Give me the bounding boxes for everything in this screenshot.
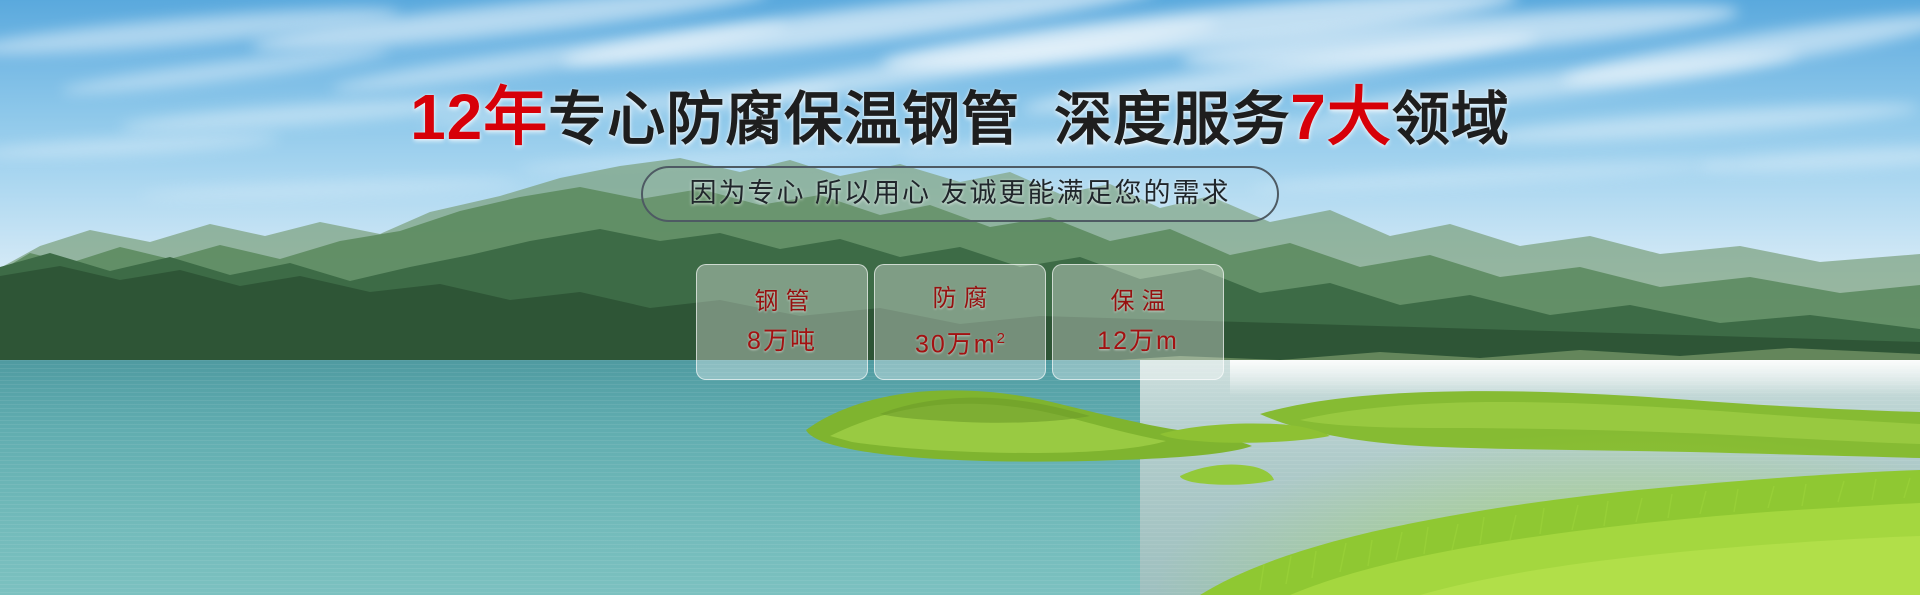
- headline-fields-text: 领域: [1392, 87, 1510, 152]
- stat-card-value: 12万m: [1097, 328, 1179, 355]
- headline: 12年专心防腐保温钢管深度服务7大领域: [0, 86, 1920, 151]
- headline-service-text: 深度服务: [1054, 87, 1290, 152]
- stat-card-value-text: 8万吨: [747, 327, 817, 355]
- banner-content: 12年专心防腐保温钢管深度服务7大领域 因为专心 所以用心 友诚更能满足您的需求…: [0, 0, 1920, 595]
- stat-card[interactable]: 钢管 8万吨: [696, 264, 868, 380]
- stat-card-value: 8万吨: [747, 328, 817, 355]
- headline-years: 12年: [410, 81, 548, 153]
- headline-fields-count: 7大: [1290, 81, 1392, 153]
- stat-card[interactable]: 防腐 30万m2: [874, 264, 1046, 380]
- stat-card-value-superscript: 2: [997, 330, 1005, 347]
- promo-banner: 12年专心防腐保温钢管深度服务7大领域 因为专心 所以用心 友诚更能满足您的需求…: [0, 0, 1920, 595]
- stat-card[interactable]: 保温 12万m: [1052, 264, 1224, 380]
- stat-card-value: 30万m2: [915, 325, 1005, 358]
- stat-card-label: 保温: [1104, 289, 1173, 315]
- subtitle-container: 因为专心 所以用心 友诚更能满足您的需求: [0, 166, 1920, 222]
- headline-main-text: 专心防腐保温钢管: [548, 87, 1020, 152]
- stat-card-label: 钢管: [748, 289, 817, 315]
- stat-card-value-text: 12万m: [1097, 327, 1179, 355]
- stat-card-list: 钢管 8万吨 防腐 30万m2 保温 12万m: [0, 264, 1920, 380]
- subtitle-pill: 因为专心 所以用心 友诚更能满足您的需求: [641, 166, 1278, 222]
- stat-card-value-text: 30万m: [915, 330, 997, 358]
- stat-card-label: 防腐: [926, 286, 995, 312]
